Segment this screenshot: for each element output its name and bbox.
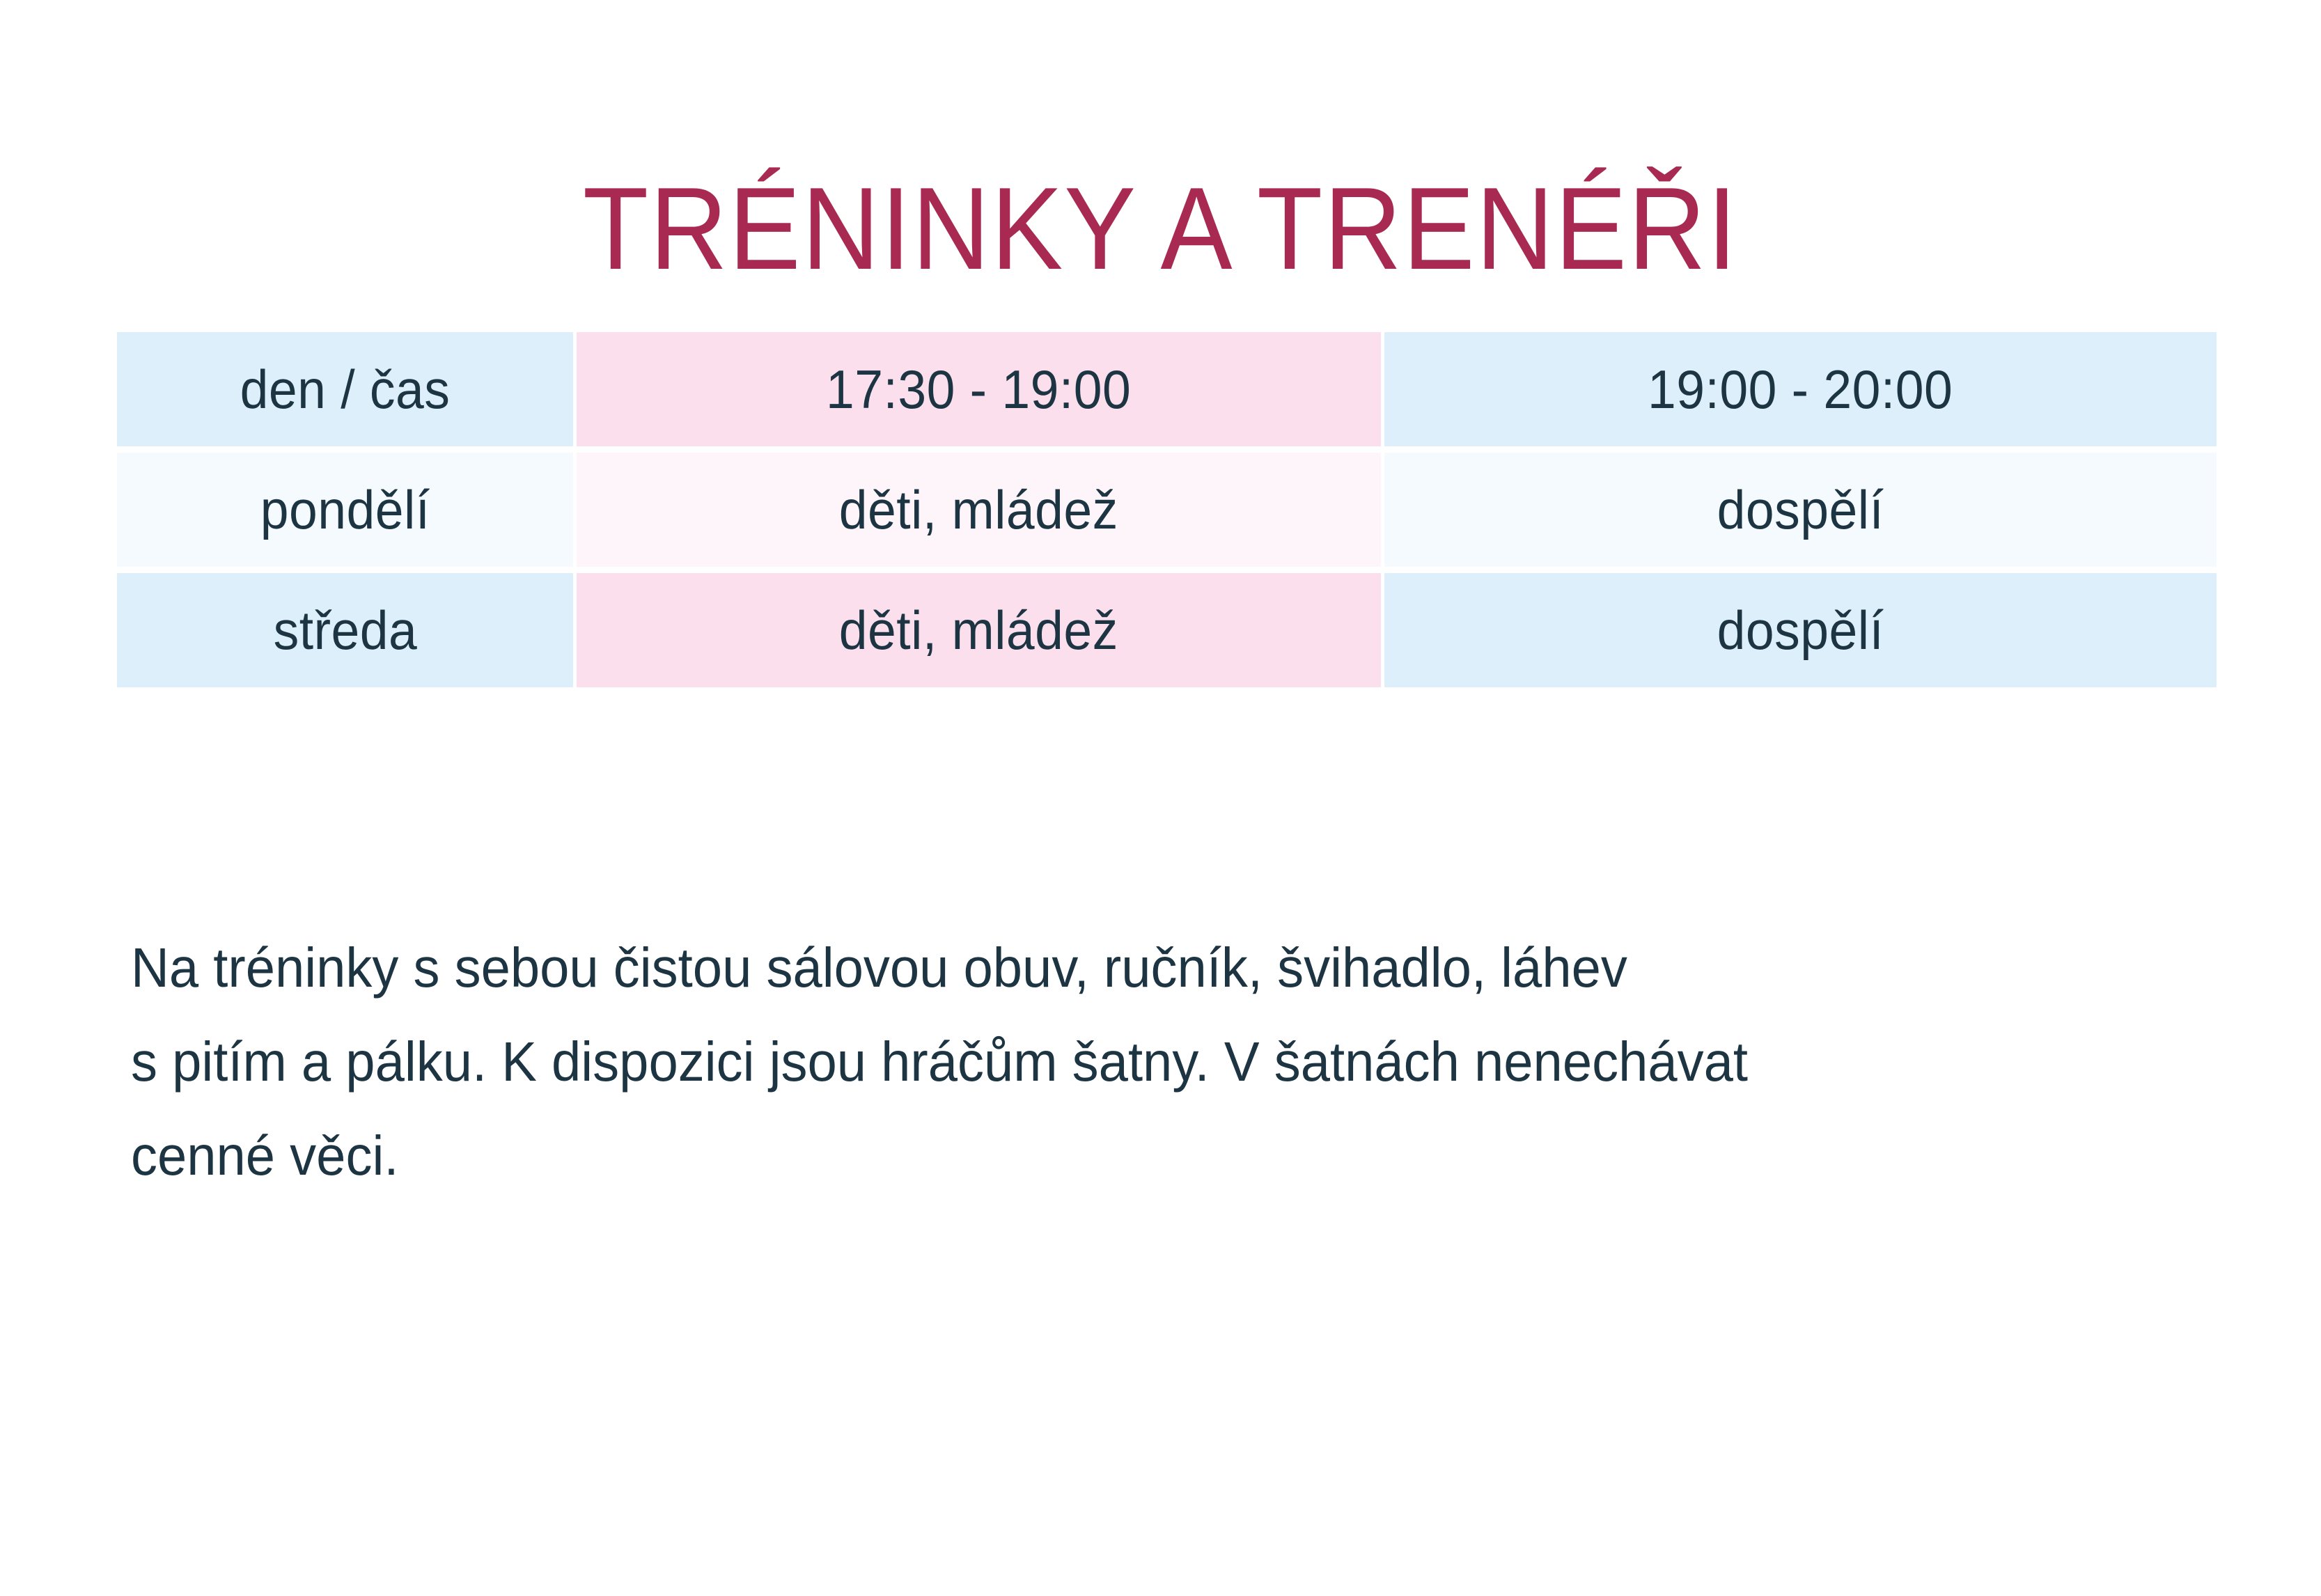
cell-day-monday: pondělí bbox=[117, 453, 573, 567]
cell-monday-early: děti, mládež bbox=[577, 453, 1381, 567]
group-label: dospělí bbox=[1717, 599, 1884, 662]
note-line-1: Na tréninky s sebou čistou sálovou obuv,… bbox=[131, 921, 2116, 1015]
cell-wednesday-late: dospělí bbox=[1384, 573, 2217, 687]
cell-monday-late: dospělí bbox=[1384, 453, 2217, 567]
note-line-3: cenné věci. bbox=[131, 1109, 2116, 1203]
cell-wednesday-early: děti, mládež bbox=[577, 573, 1381, 687]
header-label-day-time: den / čas bbox=[240, 358, 451, 421]
table-row: pondělí děti, mládež dospělí bbox=[117, 453, 2217, 567]
table-header-row: den / čas 17:30 - 19:00 19:00 - 20:00 bbox=[117, 332, 2217, 446]
header-cell-slot-early: 17:30 - 19:00 bbox=[577, 332, 1381, 446]
group-label: děti, mládež bbox=[839, 478, 1118, 542]
note-line-2: s pitím a pálku. K dispozici jsou hráčům… bbox=[131, 1015, 2116, 1109]
page-title: TRÉNINKY A TRENÉŘI bbox=[93, 166, 2228, 292]
day-label: pondělí bbox=[260, 478, 430, 542]
cell-day-wednesday: středa bbox=[117, 573, 573, 687]
group-label: děti, mládež bbox=[839, 599, 1118, 662]
training-schedule-table: den / čas 17:30 - 19:00 19:00 - 20:00 po… bbox=[114, 326, 2220, 694]
table-row: středa děti, mládež dospělí bbox=[117, 573, 2217, 687]
header-cell-day-time: den / čas bbox=[117, 332, 573, 446]
header-label-slot-early: 17:30 - 19:00 bbox=[826, 358, 1131, 421]
poster-page: TRÉNINKY A TRENÉŘI den / čas 17:30 - 19:… bbox=[0, 0, 2321, 1596]
day-label: středa bbox=[273, 599, 417, 662]
group-label: dospělí bbox=[1717, 478, 1884, 542]
training-note: Na tréninky s sebou čistou sálovou obuv,… bbox=[131, 921, 2220, 1203]
header-label-slot-late: 19:00 - 20:00 bbox=[1648, 358, 1953, 421]
header-cell-slot-late: 19:00 - 20:00 bbox=[1384, 332, 2217, 446]
